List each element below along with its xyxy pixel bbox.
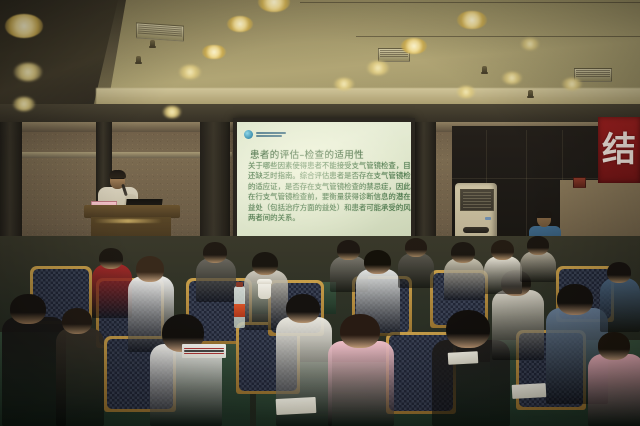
person-head	[557, 284, 593, 315]
hospital-emblem-icon	[244, 130, 253, 139]
recessed-ceiling-downlight	[457, 11, 487, 30]
person-head	[203, 242, 227, 263]
wall-horizontal-trim	[0, 152, 232, 158]
conference-room-photo: 结 患者的评估–检查的适用性 关于哪些因素使得患者不能接受支气管镜检查，目前还缺…	[0, 0, 640, 426]
person-torso	[56, 328, 104, 426]
person-head	[99, 248, 123, 269]
audience-member	[150, 314, 222, 426]
handout-paper	[512, 383, 547, 399]
slide-logo-text	[256, 132, 286, 137]
recessed-ceiling-downlight	[334, 78, 354, 90]
audience-member	[444, 242, 484, 300]
slide-body-line: 益处（包括治疗方面的益处）和患者可能承受的风险	[248, 203, 402, 213]
fire-sprinkler-head	[482, 66, 487, 74]
person-head	[340, 314, 380, 348]
recessed-ceiling-downlight	[502, 72, 522, 84]
recessed-ceiling-downlight	[562, 78, 582, 90]
projection-screen[interactable]: 患者的评估–检查的适用性 关于哪些因素使得患者不能接受支气管镜检查，目前还缺乏时…	[237, 122, 411, 248]
fire-sprinkler-head	[150, 40, 155, 48]
eyeglasses-icon	[111, 178, 124, 182]
slide-logo	[244, 130, 286, 139]
lectern-highlight	[94, 219, 162, 223]
recessed-ceiling-downlight	[163, 106, 181, 117]
ac-intake-grille	[460, 189, 494, 211]
recessed-ceiling-downlight	[367, 61, 389, 75]
slide-body-line: 还缺乏时指南。综合评估患者是否存在支气管镜检查	[248, 171, 402, 181]
recessed-ceiling-downlight	[457, 86, 475, 97]
audience-member	[484, 240, 522, 294]
person-head	[252, 252, 278, 275]
recessed-ceiling-downlight	[14, 63, 42, 80]
audience-member	[328, 314, 394, 426]
person-torso	[600, 278, 640, 332]
recessed-ceiling-downlight	[401, 38, 427, 54]
wall-exit-sign	[573, 177, 586, 188]
person-torso	[492, 290, 544, 360]
fire-sprinkler-head	[136, 56, 141, 64]
slide-body-line: 的适应证，是否存在支气管镜检查的禁忌症，因此，	[248, 182, 402, 192]
ceiling-air-vent	[136, 22, 184, 41]
lidded-teacup	[258, 282, 271, 299]
person-torso	[328, 341, 394, 426]
person-head	[136, 256, 164, 282]
audience-member	[520, 236, 556, 282]
person-torso	[444, 258, 484, 300]
audience-member	[196, 242, 236, 302]
ceiling-seam	[356, 36, 640, 37]
fire-sprinkler-head	[528, 90, 533, 98]
person-torso	[484, 256, 522, 294]
recessed-ceiling-downlight	[227, 16, 253, 32]
person-head	[446, 310, 490, 348]
person-head	[451, 242, 475, 263]
handout-paper	[448, 351, 479, 365]
moderator-hair	[536, 210, 552, 218]
red-banner: 结	[598, 117, 640, 183]
banner-character: 结	[602, 133, 636, 167]
audience-member	[92, 248, 132, 318]
recessed-ceiling-downlight	[179, 65, 201, 79]
person-head	[10, 294, 46, 324]
audience-member	[56, 308, 104, 426]
ac-display-icon	[485, 217, 491, 220]
person-torso	[196, 258, 236, 302]
ceiling-seam	[300, 2, 640, 3]
water-bottle	[234, 286, 245, 328]
slide-body-text: 关于哪些因素使得患者不能接受支气管镜检查，目前还缺乏时指南。综合评估患者是否存在…	[248, 161, 402, 223]
recessed-ceiling-downlight	[5, 14, 43, 38]
handout-paper	[276, 397, 317, 415]
audience-member	[588, 332, 640, 426]
recessed-ceiling-downlight	[521, 38, 539, 49]
person-head	[286, 294, 320, 323]
audience-member	[600, 262, 640, 332]
recessed-ceiling-downlight	[13, 97, 35, 111]
seated-audience	[0, 236, 640, 426]
person-head	[527, 236, 549, 255]
person-head	[491, 240, 514, 260]
person-torso	[588, 354, 640, 426]
person-head	[62, 308, 92, 334]
person-head	[405, 238, 427, 257]
person-head	[364, 250, 391, 274]
person-head	[598, 332, 630, 360]
person-torso	[398, 253, 434, 288]
person-torso	[92, 264, 132, 318]
bottle-label	[234, 304, 245, 317]
audience-member	[398, 238, 434, 288]
slide-body-line: 关于哪些因素使得患者不能接受支气管镜检查，目前	[248, 161, 402, 171]
bottle-cap	[236, 282, 243, 287]
teacup-lid	[257, 279, 272, 284]
person-head	[607, 262, 631, 283]
slide-body-line: 两者间的关系。	[248, 213, 402, 223]
shirt-back-print	[182, 344, 226, 358]
slide-title: 患者的评估–检查的适用性	[250, 147, 364, 161]
slide-body-line: 在行支气管镜检查前，要衡量获得诊断信息的潜在	[248, 192, 402, 202]
person-torso	[520, 251, 556, 282]
ac-outlet-vent	[463, 227, 489, 233]
